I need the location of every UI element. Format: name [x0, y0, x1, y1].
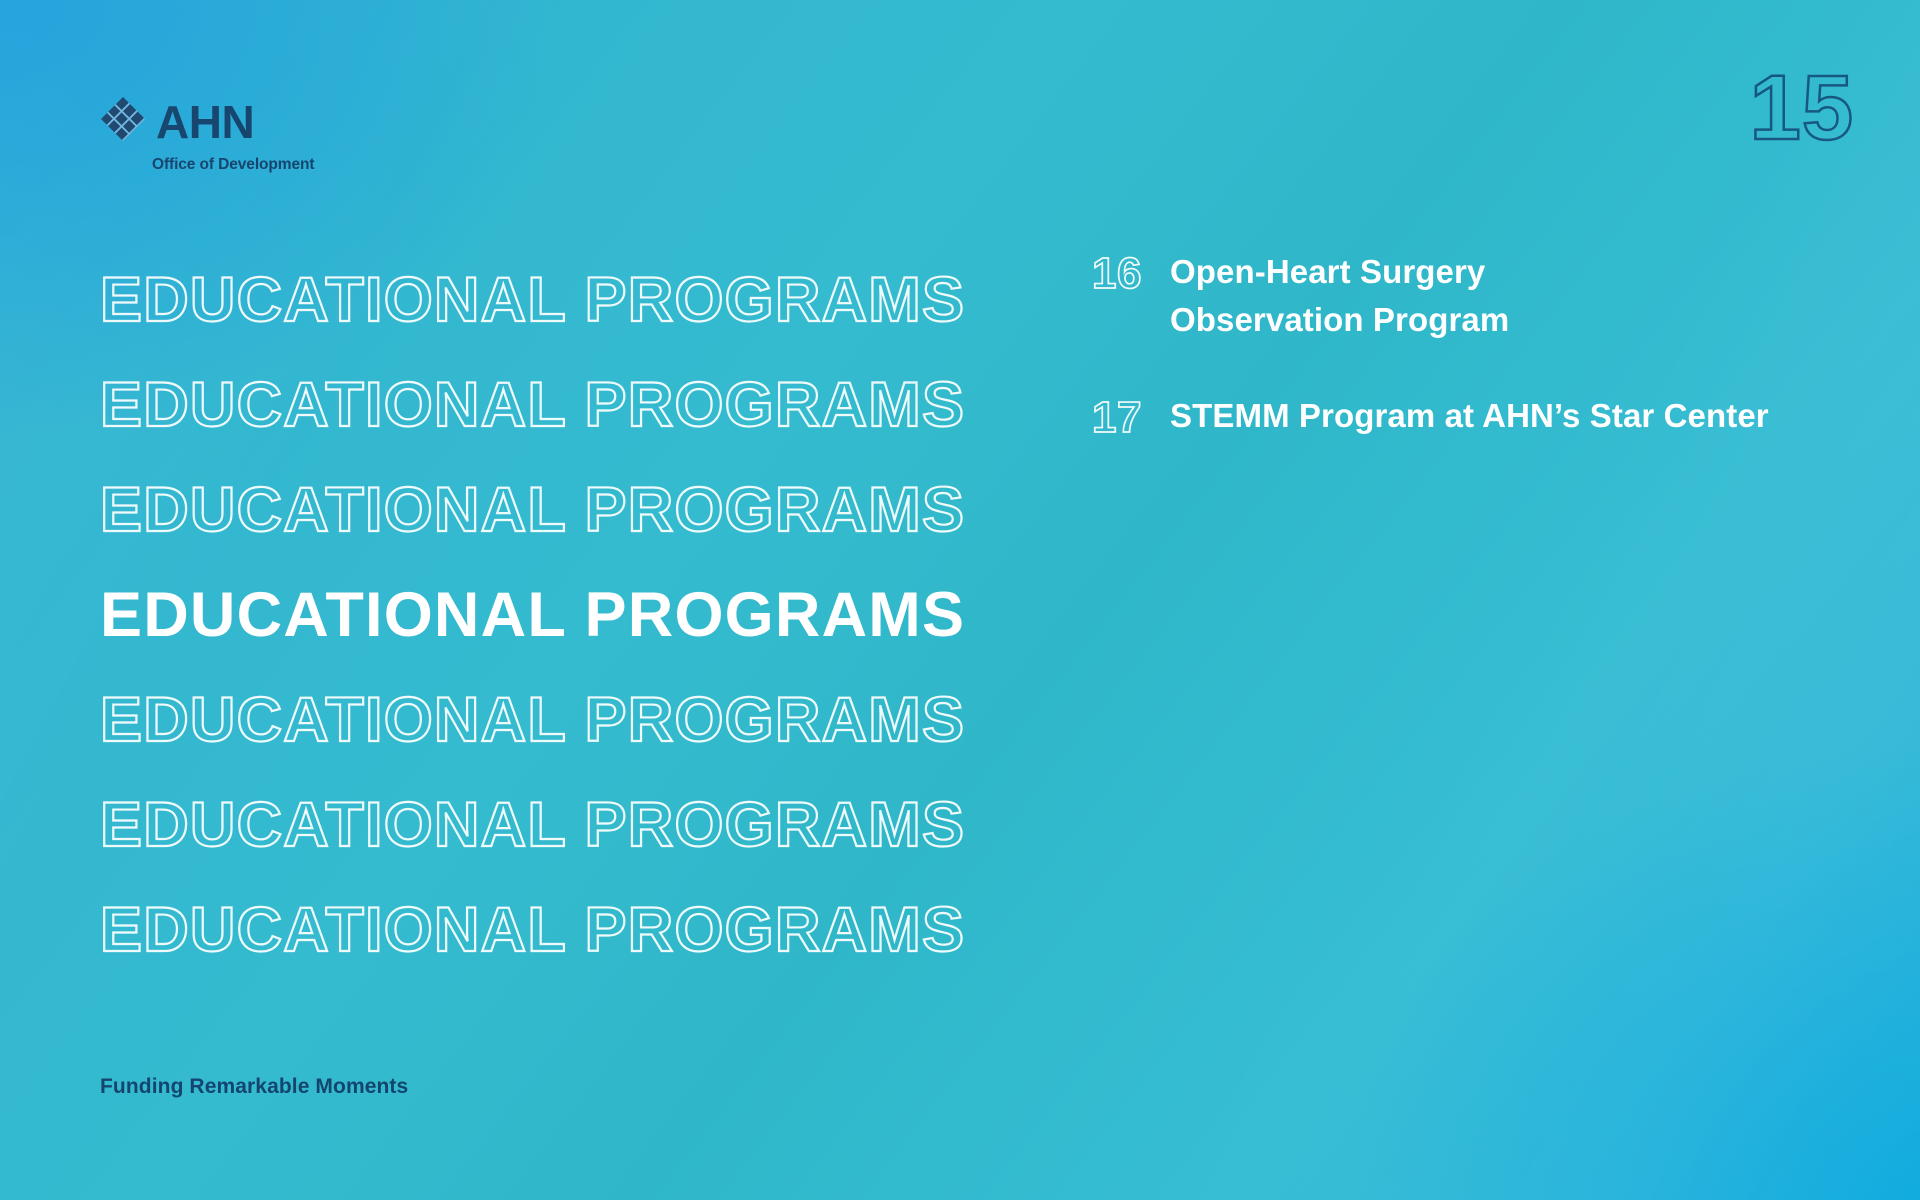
- contents-list: 16 Open-Heart Surgery Observation Progra…: [1092, 248, 1852, 492]
- section-title-line: EDUCATIONAL PROGRAMS: [100, 458, 1000, 563]
- contents-entry-number: 17: [1092, 392, 1170, 444]
- section-title-primary: EDUCATIONAL PROGRAMS: [100, 563, 1000, 668]
- page-number: 15: [1750, 62, 1854, 154]
- contents-entry-label-line2: Observation Program: [1170, 296, 1509, 344]
- ahn-logo: AHN Office of Development: [100, 96, 314, 174]
- contents-entry[interactable]: 16 Open-Heart Surgery Observation Progra…: [1092, 248, 1852, 344]
- contents-entry-label-line1: STEMM Program at AHN’s Star Center: [1170, 397, 1769, 434]
- section-title-stack: EDUCATIONAL PROGRAMS EDUCATIONAL PROGRAM…: [100, 248, 1000, 983]
- contents-entry[interactable]: 17 STEMM Program at AHN’s Star Center: [1092, 392, 1852, 444]
- logo-subtitle: Office of Development: [152, 156, 314, 174]
- slide-canvas: AHN Office of Development 15 EDUCATIONAL…: [0, 0, 1920, 1200]
- section-title-line: EDUCATIONAL PROGRAMS: [100, 353, 1000, 458]
- contents-entry-label-line1: Open-Heart Surgery: [1170, 253, 1485, 290]
- section-title-line: EDUCATIONAL PROGRAMS: [100, 773, 1000, 878]
- contents-entry-label: STEMM Program at AHN’s Star Center: [1170, 392, 1769, 440]
- contents-entry-number: 16: [1092, 248, 1170, 300]
- section-title-line: EDUCATIONAL PROGRAMS: [100, 878, 1000, 983]
- contents-entry-label: Open-Heart Surgery Observation Program: [1170, 248, 1509, 344]
- footer-tagline: Funding Remarkable Moments: [100, 1075, 408, 1099]
- logo-row: AHN: [100, 96, 254, 147]
- section-title-line: EDUCATIONAL PROGRAMS: [100, 248, 1000, 353]
- section-title-line: EDUCATIONAL PROGRAMS: [100, 668, 1000, 773]
- ahn-wordmark: AHN: [156, 99, 254, 145]
- ahn-diamond-logo-icon: [100, 96, 146, 147]
